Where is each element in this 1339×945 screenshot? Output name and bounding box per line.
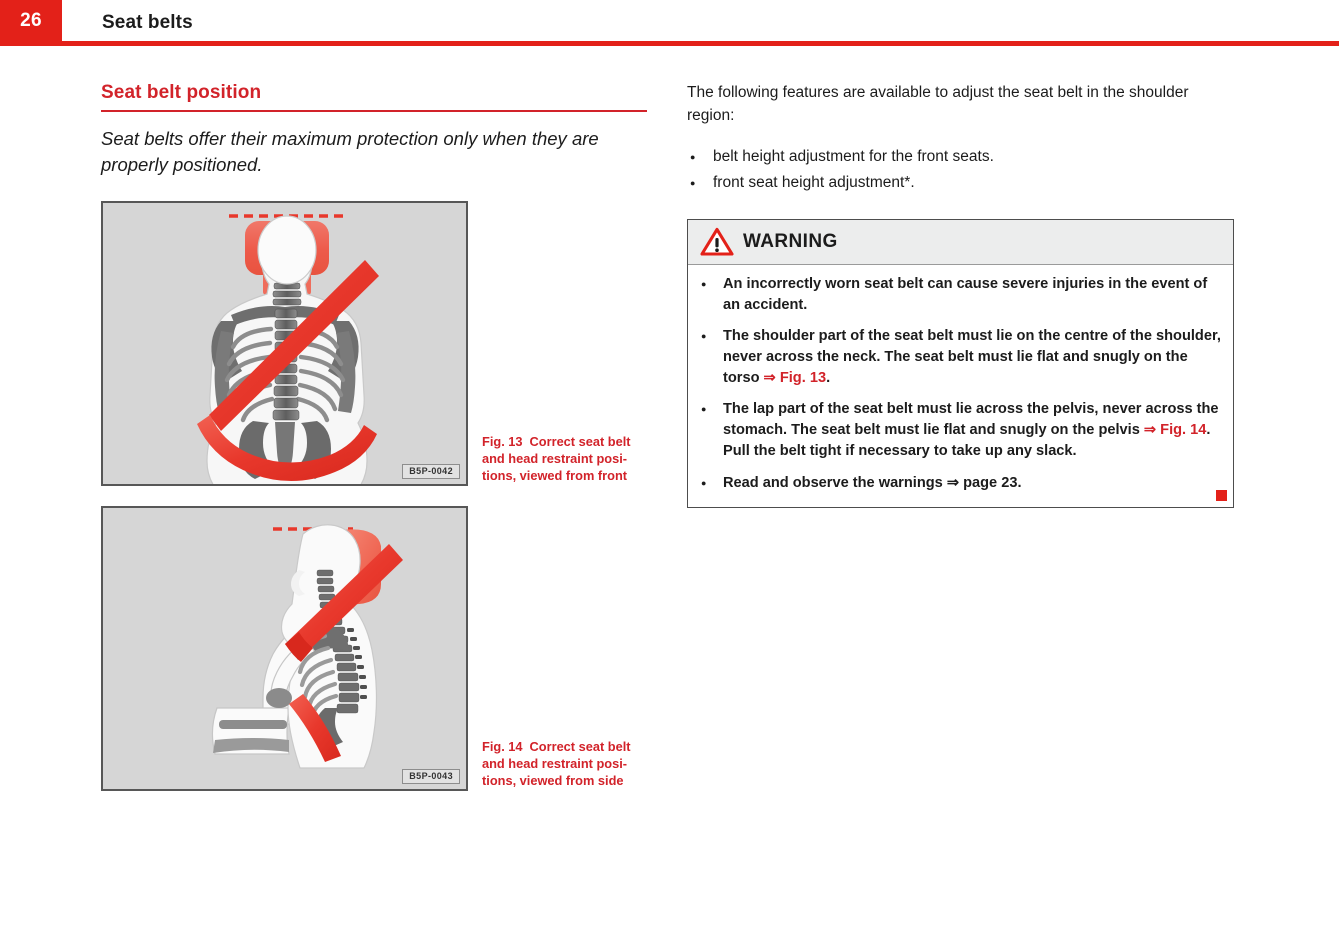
warning-item: The shoulder part of the seat belt must … [699,326,1222,388]
figure-14-caption: Fig. 14Correct seat belt and head restra… [482,738,647,789]
section-title-underline [101,110,647,112]
list-item: front seat height adjustment*. [687,170,1234,197]
warning-title: WARNING [743,231,838,253]
figure-block-13: B5P-0042 Fig. 13Correct seat belt and he… [101,201,647,486]
warning-item: Read and observe the warnings ⇒ page 23. [699,473,1222,494]
warning-item-text-tail: . [826,370,830,386]
figure-14-caption-line2: and head restraint posi- [482,756,627,771]
figure-13-id-tag: B5P-0042 [402,464,460,479]
warning-item-text: An incorrectly worn seat belt can cause … [723,276,1207,313]
figure-13-illustration [103,203,466,484]
figure-14-caption-line1: Correct seat belt [530,739,631,754]
page-header: 26 Seat belts [0,0,1339,48]
warning-box-body: An incorrectly worn seat belt can cause … [688,265,1233,507]
section-end-marker [1216,490,1227,501]
page-number-tab: 26 [0,0,62,41]
figure-block-14: B5P-0043 Fig. 14Correct seat belt and he… [101,506,647,791]
figure-13-frame: B5P-0042 [101,201,468,486]
page-header-title: Seat belts [102,12,193,34]
figure-13-caption: Fig. 13Correct seat belt and head restra… [482,433,647,484]
section-title: Seat belt position [101,82,647,110]
warning-item-text: Read and observe the warnings ⇒ page 23. [723,475,1022,491]
figure-13-caption-line3: tions, viewed from front [482,468,627,483]
left-column: Seat belt position Seat belts offer thei… [101,82,647,809]
list-item: belt height adjustment for the front sea… [687,144,1234,171]
features-bullet-list: belt height adjustment for the front sea… [687,144,1234,197]
warning-box-header: WARNING [688,220,1233,265]
cross-reference-link[interactable]: ⇒ Fig. 13 [764,370,827,386]
right-column: The following features are available to … [687,82,1234,508]
figure-13-caption-line1: Correct seat belt [530,434,631,449]
intro-paragraph: The following features are available to … [687,82,1234,128]
header-rule-notch [62,0,102,41]
warning-box: WARNING An incorrectly worn seat belt ca… [687,219,1234,508]
figure-14-id-tag: B5P-0043 [402,769,460,784]
header-rule [0,41,1339,46]
figure-14-caption-line3: tions, viewed from side [482,773,624,788]
figure-14-illustration [103,508,466,789]
warning-triangle-icon [700,227,734,257]
warning-item: An incorrectly worn seat belt can cause … [699,274,1222,315]
figure-13-caption-line2: and head restraint posi- [482,451,627,466]
figure-13-caption-label: Fig. 13 [482,434,523,449]
warning-item: The lap part of the seat belt must lie a… [699,399,1222,461]
figure-14-caption-label: Fig. 14 [482,739,523,754]
section-intro-text: Seat belts offer their maximum protectio… [101,126,631,179]
figure-14-frame: B5P-0043 [101,506,468,791]
cross-reference-link[interactable]: ⇒ Fig. 14 [1144,422,1207,438]
